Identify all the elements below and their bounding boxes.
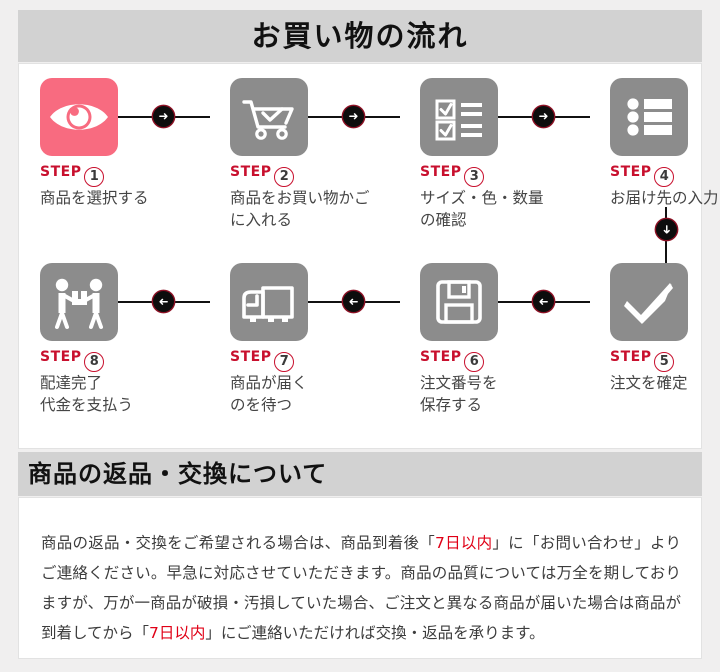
returns-text-part-3: 」にご連絡いただければ交換・返品を承ります。: [205, 624, 544, 642]
returns-highlight-1: 7日以内: [435, 534, 492, 552]
arrow-down-icon: ➜: [656, 219, 677, 240]
step-number: 5: [654, 352, 674, 372]
flow-step-7[interactable]: STEP7 商品が届く のを待つ: [209, 257, 380, 442]
save-icon: [420, 263, 498, 341]
step-prefix: STEP: [610, 349, 651, 365]
connector-step5-step6: ➜: [498, 300, 590, 304]
step-number: 3: [464, 167, 484, 187]
step-description: サイズ・色・数量 の確認: [420, 187, 580, 231]
returns-highlight-2: 7日以内: [149, 624, 205, 642]
connector-step3-step4: ➜: [498, 115, 590, 119]
eye-icon: [40, 78, 118, 156]
flow-panel: STEP1 商品を選択する: [18, 63, 702, 449]
flow-step-1-label: STEP1 商品を選択する: [40, 164, 200, 209]
step-number: 8: [84, 352, 104, 372]
step-description: 配達完了 代金を支払う: [40, 372, 200, 416]
flow-step-6[interactable]: STEP6 注文番号を 保存する: [399, 257, 570, 442]
step-tag: STEP2: [230, 164, 390, 184]
list-icon: [610, 78, 688, 156]
returns-text-part-1: 商品の返品・交換をご希望される場合は、商品到着後「: [41, 534, 435, 552]
arrow-left-icon: ➜: [533, 291, 554, 312]
connector-step7-step8: ➜: [118, 300, 210, 304]
handover-icon: [40, 263, 118, 341]
flow-step-5-label: STEP5 注文を確定: [610, 349, 720, 394]
flow-row-bottom: STEP8 配達完了 代金を支払う: [19, 257, 703, 442]
returns-policy-text: 商品の返品・交換をご希望される場合は、商品到着後「7日以内」に「お問い合わせ」よ…: [41, 528, 681, 648]
flow-section-title: お買い物の流れ: [18, 10, 702, 62]
step-tag: STEP1: [40, 164, 200, 184]
check-icon: [610, 263, 688, 341]
cart-icon: [230, 78, 308, 156]
arrow-left-icon: ➜: [343, 291, 364, 312]
step-number: 1: [84, 167, 104, 187]
flow-step-8-label: STEP8 配達完了 代金を支払う: [40, 349, 200, 416]
arrow-right-icon: ➜: [533, 106, 554, 127]
flow-step-6-label: STEP6 注文番号を 保存する: [420, 349, 580, 416]
step-prefix: STEP: [610, 164, 651, 180]
connector-step1-step2: ➜: [118, 115, 210, 119]
arrow-right-icon: ➜: [343, 106, 364, 127]
step-prefix: STEP: [420, 164, 461, 180]
step-tag: STEP7: [230, 349, 390, 369]
step-number: 6: [464, 352, 484, 372]
step-number: 2: [274, 167, 294, 187]
arrow-left-icon: ➜: [153, 291, 174, 312]
step-description: 商品を選択する: [40, 187, 200, 209]
step-tag: STEP4: [610, 164, 720, 184]
flow-step-1[interactable]: STEP1 商品を選択する: [19, 72, 190, 257]
returns-panel: 商品の返品・交換をご希望される場合は、商品到着後「7日以内」に「お問い合わせ」よ…: [18, 497, 702, 659]
flow-step-7-label: STEP7 商品が届く のを待つ: [230, 349, 390, 416]
flow-step-3[interactable]: STEP3 サイズ・色・数量 の確認: [399, 72, 570, 257]
connector-step2-step3: ➜: [308, 115, 400, 119]
step-tag: STEP8: [40, 349, 200, 369]
step-description: 注文番号を 保存する: [420, 372, 580, 416]
step-tag: STEP3: [420, 164, 580, 184]
step-prefix: STEP: [40, 349, 81, 365]
step-prefix: STEP: [420, 349, 461, 365]
step-tag: STEP6: [420, 349, 580, 369]
returns-section-title: 商品の返品・交換について: [18, 452, 702, 496]
flow-row-top: STEP1 商品を選択する: [19, 72, 703, 257]
step-prefix: STEP: [40, 164, 81, 180]
step-prefix: STEP: [230, 349, 271, 365]
step-prefix: STEP: [230, 164, 271, 180]
step-description: 商品が届く のを待つ: [230, 372, 390, 416]
flow-step-4[interactable]: STEP4 お届け先の入力: [589, 72, 720, 257]
step-description: 注文を確定: [610, 372, 720, 394]
truck-icon: [230, 263, 308, 341]
connector-step6-step7: ➜: [308, 300, 400, 304]
flow-step-3-label: STEP3 サイズ・色・数量 の確認: [420, 164, 580, 231]
flow-step-8[interactable]: STEP8 配達完了 代金を支払う: [19, 257, 190, 442]
flow-step-2[interactable]: STEP2 商品をお買い物かご に入れる: [209, 72, 380, 257]
flow-step-4-label: STEP4 お届け先の入力: [610, 164, 720, 209]
step-description: お届け先の入力: [610, 187, 720, 209]
step-tag: STEP5: [610, 349, 720, 369]
checklist-icon: [420, 78, 498, 156]
shopping-flow-page: お買い物の流れ STEP1 商品を選択する: [0, 0, 720, 672]
step-number: 7: [274, 352, 294, 372]
step-number: 4: [654, 167, 674, 187]
step-description: 商品をお買い物かご に入れる: [230, 187, 390, 231]
flow-step-5[interactable]: STEP5 注文を確定: [589, 257, 720, 442]
arrow-right-icon: ➜: [153, 106, 174, 127]
flow-step-2-label: STEP2 商品をお買い物かご に入れる: [230, 164, 390, 231]
